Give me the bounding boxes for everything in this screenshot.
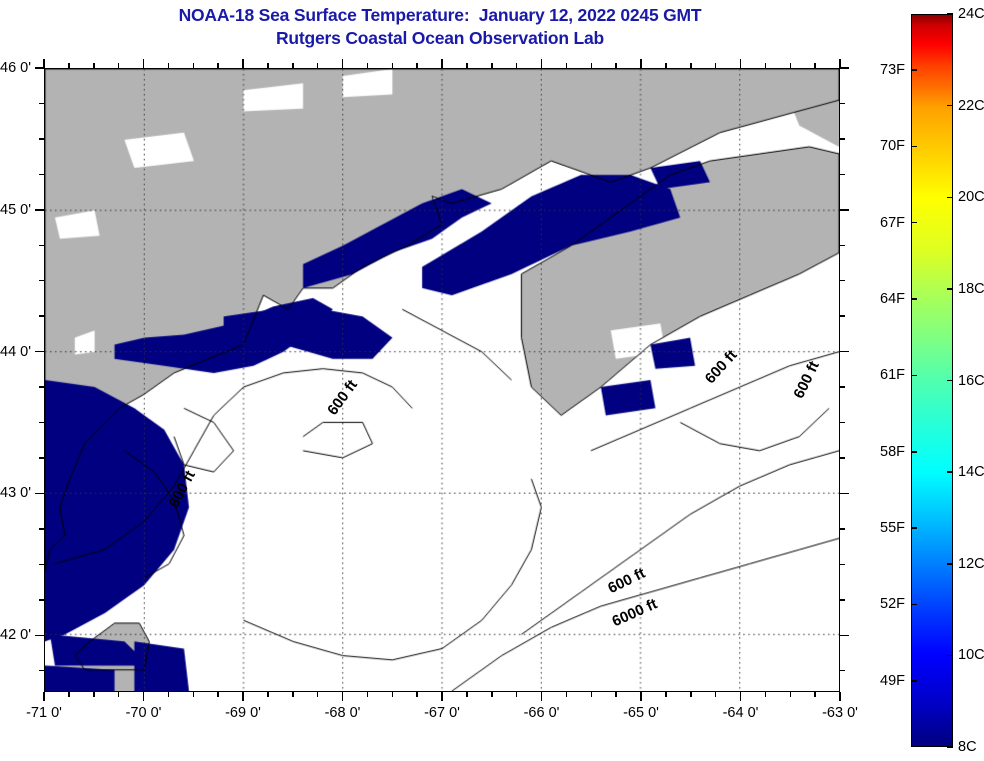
y-axis-label: 42 0': [0, 627, 31, 643]
colorbar-tick-f: [911, 146, 917, 148]
x-axis-minor-tick: [193, 692, 195, 697]
colorbar-tick-c: [947, 380, 953, 382]
y-axis-minor-tick-right: [840, 386, 845, 388]
x-axis-minor-tick-top: [392, 63, 394, 68]
x-axis-tick: [441, 692, 443, 701]
x-axis-tick-top: [740, 59, 742, 68]
x-axis-minor-tick: [93, 692, 95, 697]
x-axis-minor-tick-top: [367, 63, 369, 68]
y-axis-minor-tick-right: [840, 315, 845, 317]
x-axis-minor-tick: [790, 692, 792, 697]
y-axis-minor-tick-right: [840, 422, 845, 424]
x-axis-minor-tick: [466, 692, 468, 697]
x-axis-label: -65 0': [623, 705, 659, 721]
x-axis-tick: [43, 692, 45, 701]
y-axis-tick-right: [840, 209, 849, 211]
x-axis-minor-tick: [392, 692, 394, 697]
y-axis-minor-tick-right: [840, 245, 845, 247]
y-axis-minor-tick: [39, 564, 44, 566]
colorbar-fahrenheit-label: 55F: [855, 520, 905, 536]
colorbar-celsius-label: 24C: [958, 6, 984, 22]
x-axis-tick-top: [541, 59, 543, 68]
x-axis-minor-tick: [168, 692, 170, 697]
x-axis-tick: [242, 692, 244, 701]
x-axis-minor-tick: [367, 692, 369, 697]
x-axis-minor-tick: [217, 692, 219, 697]
x-axis-minor-tick: [591, 692, 593, 697]
colorbar-fahrenheit-label: 73F: [855, 62, 905, 78]
x-axis-minor-tick-top: [765, 63, 767, 68]
y-axis-minor-tick-right: [840, 138, 845, 140]
x-axis-minor-tick-top: [591, 63, 593, 68]
colorbar-fahrenheit-label: 64F: [855, 291, 905, 307]
colorbar-fahrenheit-label: 61F: [855, 367, 905, 383]
colorbar-tick-c: [947, 197, 953, 199]
y-axis-label: 45 0': [0, 202, 31, 218]
x-axis-tick: [342, 692, 344, 701]
x-axis-tick-top: [242, 59, 244, 68]
title-line-2: Rutgers Coastal Ocean Observation Lab: [0, 27, 880, 50]
y-axis-minor-tick: [39, 315, 44, 317]
x-axis-minor-tick-top: [93, 63, 95, 68]
x-axis-minor-tick: [292, 692, 294, 697]
x-axis-label: -63 0': [822, 705, 858, 721]
colorbar-celsius-label: 16C: [958, 373, 984, 389]
colorbar-tick-f: [911, 69, 917, 71]
x-axis-tick: [143, 692, 145, 701]
x-axis-tick: [541, 692, 543, 701]
colorbar-tick-c: [947, 655, 953, 657]
y-axis-label: 43 0': [0, 485, 31, 501]
colorbar-tick-f: [911, 222, 917, 224]
sst-map-frame: 600 ft600 ft600 ft6000 ft600 ft600 ft: [44, 68, 840, 692]
x-axis-minor-tick-top: [466, 63, 468, 68]
colorbar-tick-f: [911, 375, 917, 377]
colorbar-tick-c: [947, 563, 953, 565]
x-axis-minor-tick: [416, 692, 418, 697]
y-axis-tick-right: [840, 635, 849, 637]
x-axis-tick: [740, 692, 742, 701]
x-axis-minor-tick-top: [267, 63, 269, 68]
x-axis-minor-tick-top: [566, 63, 568, 68]
y-axis-minor-tick-right: [840, 174, 845, 176]
x-axis-minor-tick-top: [516, 63, 518, 68]
colorbar-tick-c: [947, 471, 953, 473]
y-axis-minor-tick: [39, 138, 44, 140]
title-line-1: NOAA-18 Sea Surface Temperature: January…: [0, 4, 880, 27]
x-axis-minor-tick-top: [168, 63, 170, 68]
y-axis-minor-tick: [39, 103, 44, 105]
x-axis-minor-tick-top: [491, 63, 493, 68]
colorbar-fahrenheit-label: 52F: [855, 596, 905, 612]
x-axis-minor-tick-top: [665, 63, 667, 68]
x-axis-label: -70 0': [126, 705, 162, 721]
y-axis-minor-tick-right: [840, 670, 845, 672]
colorbar-celsius-label: 18C: [958, 281, 984, 297]
x-axis-minor-tick: [615, 692, 617, 697]
y-axis-tick: [35, 351, 44, 353]
y-axis-minor-tick-right: [840, 599, 845, 601]
x-axis-tick-top: [640, 59, 642, 68]
y-axis-tick: [35, 635, 44, 637]
x-axis-minor-tick: [317, 692, 319, 697]
x-axis-label: -64 0': [723, 705, 759, 721]
y-axis-tick-right: [840, 493, 849, 495]
colorbar-tick-f: [911, 298, 917, 300]
x-axis-minor-tick-top: [68, 63, 70, 68]
colorbar-celsius-label: 20C: [958, 189, 984, 205]
x-axis-minor-tick: [68, 692, 70, 697]
x-axis-minor-tick: [690, 692, 692, 697]
y-axis-tick: [35, 67, 44, 69]
y-axis-label: 44 0': [0, 344, 31, 360]
colorbar-celsius-label: 12C: [958, 556, 984, 572]
y-axis-minor-tick: [39, 280, 44, 282]
x-axis-label: -66 0': [524, 705, 560, 721]
y-axis-tick-right: [840, 67, 849, 69]
y-axis-minor-tick-right: [840, 103, 845, 105]
colorbar-fahrenheit-label: 58F: [855, 444, 905, 460]
colorbar-celsius-label: 10C: [958, 647, 984, 663]
x-axis-tick-top: [342, 59, 344, 68]
y-axis-tick: [35, 209, 44, 211]
x-axis-label: -69 0': [225, 705, 261, 721]
x-axis-label: -68 0': [325, 705, 361, 721]
colorbar-tick-c: [947, 13, 953, 15]
colorbar-tick-c: [947, 288, 953, 290]
colorbar-tick-f: [911, 680, 917, 682]
x-axis-minor-tick: [765, 692, 767, 697]
x-axis-minor-tick-top: [416, 63, 418, 68]
x-axis-minor-tick-top: [615, 63, 617, 68]
colorbar-celsius-label: 14C: [958, 464, 984, 480]
x-axis-minor-tick-top: [790, 63, 792, 68]
y-axis-minor-tick: [39, 457, 44, 459]
y-axis-minor-tick-right: [840, 564, 845, 566]
colorbar-tick-c: [947, 105, 953, 107]
y-axis-minor-tick: [39, 245, 44, 247]
colorbar-tick-f: [911, 451, 917, 453]
colorbar-fahrenheit-label: 70F: [855, 138, 905, 154]
x-axis-minor-tick: [118, 692, 120, 697]
y-axis-label: 46 0': [0, 60, 31, 76]
colorbar-celsius-label: 8C: [958, 739, 977, 755]
y-axis-minor-tick: [39, 670, 44, 672]
colorbar-celsius-label: 22C: [958, 98, 984, 114]
y-axis-minor-tick: [39, 528, 44, 530]
colorbar-fahrenheit-label: 49F: [855, 673, 905, 689]
y-axis-minor-tick: [39, 599, 44, 601]
x-axis-minor-tick-top: [292, 63, 294, 68]
y-axis-minor-tick-right: [840, 280, 845, 282]
x-axis-minor-tick: [665, 692, 667, 697]
x-axis-minor-tick-top: [217, 63, 219, 68]
y-axis-tick-right: [840, 351, 849, 353]
y-axis-tick: [35, 493, 44, 495]
x-axis-minor-tick: [814, 692, 816, 697]
x-axis-minor-tick-top: [193, 63, 195, 68]
chart-title: NOAA-18 Sea Surface Temperature: January…: [0, 4, 880, 50]
x-axis-tick: [839, 692, 841, 701]
y-axis-minor-tick-right: [840, 457, 845, 459]
x-axis-label: -67 0': [424, 705, 460, 721]
x-axis-label: -71 0': [26, 705, 62, 721]
y-axis-minor-tick: [39, 386, 44, 388]
x-axis-minor-tick: [516, 692, 518, 697]
x-axis-tick-top: [441, 59, 443, 68]
x-axis-minor-tick: [267, 692, 269, 697]
colorbar-fahrenheit-label: 67F: [855, 215, 905, 231]
y-axis-minor-tick: [39, 422, 44, 424]
x-axis-minor-tick-top: [118, 63, 120, 68]
colorbar-tick-f: [911, 604, 917, 606]
colorbar-tick-c: [947, 746, 953, 748]
x-axis-minor-tick-top: [814, 63, 816, 68]
x-axis-tick-top: [143, 59, 145, 68]
x-axis-minor-tick: [566, 692, 568, 697]
x-axis-minor-tick-top: [715, 63, 717, 68]
x-axis-minor-tick-top: [317, 63, 319, 68]
y-axis-minor-tick: [39, 174, 44, 176]
y-axis-minor-tick-right: [840, 528, 845, 530]
colorbar-tick-f: [911, 527, 917, 529]
x-axis-minor-tick: [715, 692, 717, 697]
x-axis-minor-tick: [491, 692, 493, 697]
x-axis-tick: [640, 692, 642, 701]
x-axis-minor-tick-top: [690, 63, 692, 68]
